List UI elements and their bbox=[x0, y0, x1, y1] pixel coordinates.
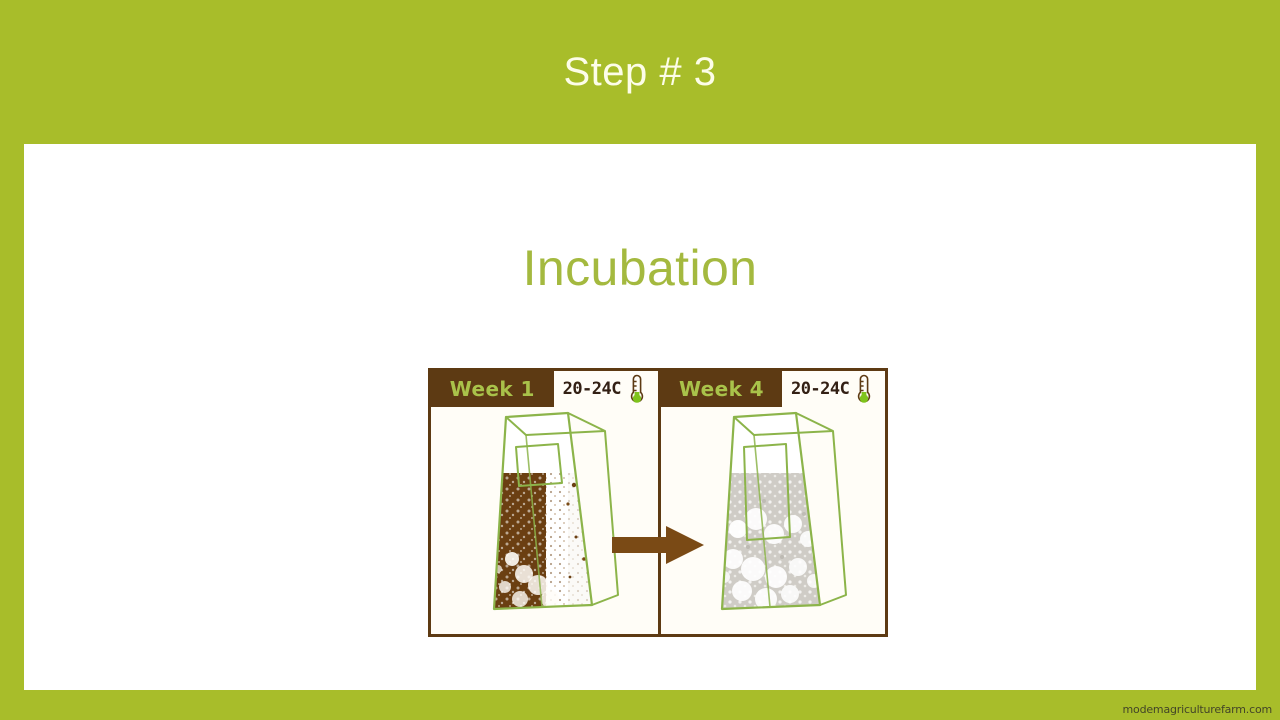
slide-title: Step # 3 bbox=[0, 0, 1280, 144]
watermark: modemagriculturefarm.com bbox=[1123, 703, 1272, 716]
incubation-illustration: Week 1 20-24C bbox=[428, 368, 888, 637]
mushroom-bag-week-4 bbox=[678, 409, 868, 624]
panel-body-week-1 bbox=[431, 407, 658, 634]
temperature-box-1: 20-24C bbox=[554, 371, 658, 407]
temperature-box-4: 20-24C bbox=[782, 371, 885, 407]
temperature-label-4: 20-24C bbox=[791, 379, 849, 399]
arrow-right-icon bbox=[610, 523, 706, 572]
temperature-label-1: 20-24C bbox=[563, 379, 621, 399]
mushroom-bag-week-1 bbox=[450, 409, 640, 624]
panel-week-1: Week 1 20-24C bbox=[431, 371, 658, 634]
panel-week-4: Week 4 20-24C bbox=[658, 371, 885, 634]
panel-header-week-1: Week 1 20-24C bbox=[431, 371, 658, 407]
panel-body-week-4 bbox=[661, 407, 885, 634]
content-card: Incubation Week 1 20-24C bbox=[24, 144, 1256, 690]
week-badge-1: Week 1 bbox=[431, 371, 554, 407]
week-badge-4: Week 4 bbox=[661, 371, 782, 407]
panel-header-week-4: Week 4 20-24C bbox=[661, 371, 885, 407]
page-title: Incubation bbox=[24, 239, 1256, 297]
